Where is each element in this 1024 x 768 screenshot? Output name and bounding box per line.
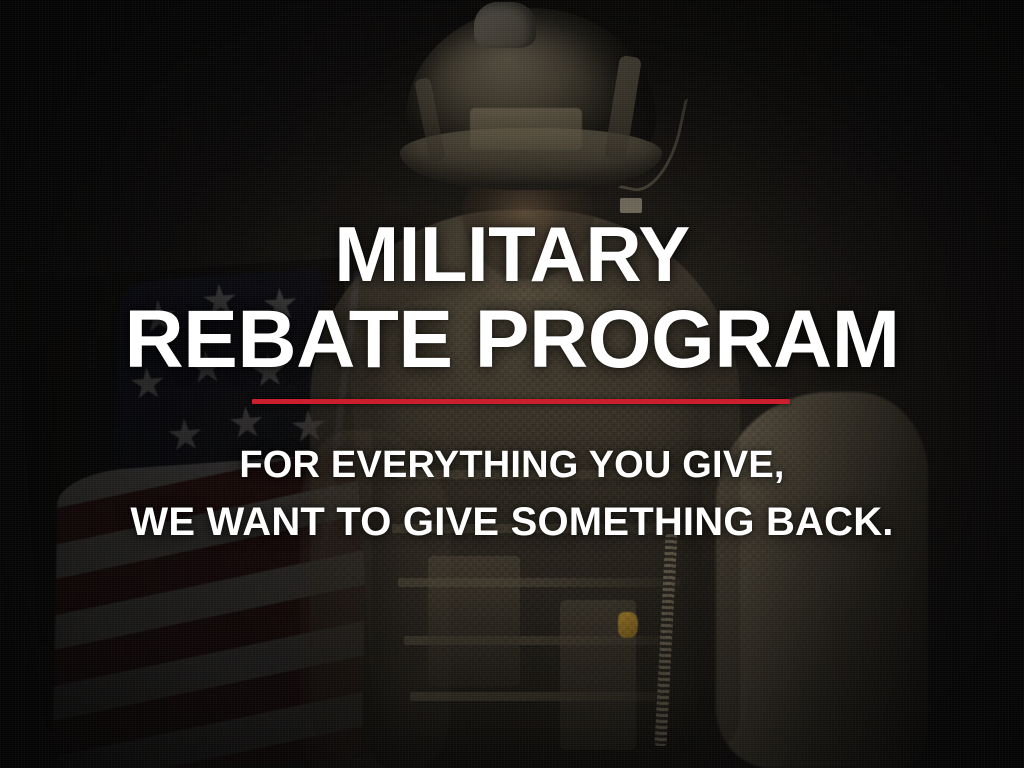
subheadline-line-2: WE WANT TO GIVE SOMETHING BACK.: [0, 500, 1024, 545]
headline-line-2: REBATE PROGRAM: [0, 300, 1024, 380]
promo-banner: MILITARY REBATE PROGRAM FOR EVERYTHING Y…: [0, 0, 1024, 768]
headline-line-1: MILITARY: [0, 216, 1024, 292]
red-divider-rule: [252, 399, 790, 404]
text-overlay: MILITARY REBATE PROGRAM FOR EVERYTHING Y…: [0, 0, 1024, 768]
subheadline-line-1: FOR EVERYTHING YOU GIVE,: [0, 444, 1024, 487]
